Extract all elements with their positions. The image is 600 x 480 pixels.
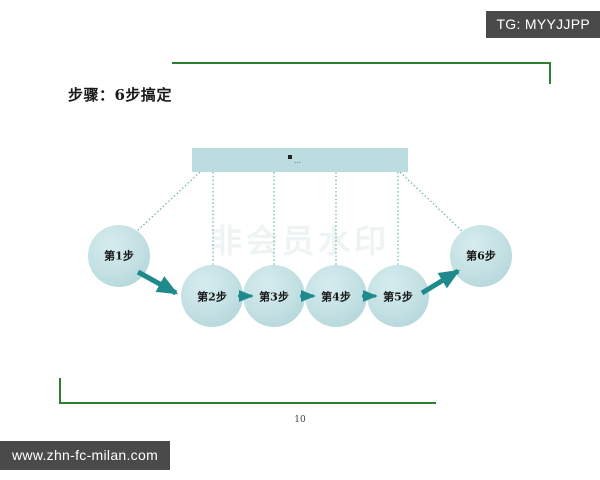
page-number: 10	[0, 415, 600, 425]
node-label-step-2: 第2步	[197, 290, 227, 304]
telegram-watermark-badge: TG: MYYJJPP	[486, 11, 600, 38]
node-label-step-3: 第3步	[259, 290, 289, 304]
square-bullet-icon	[288, 155, 292, 159]
process-flow-diagram: … 第1步 第2步 第3步 第4步 第5步 第6步	[0, 0, 600, 480]
connector-to-step-1	[136, 172, 200, 232]
connector-to-step-6	[400, 172, 463, 232]
connector-group	[136, 172, 463, 266]
header-bar-label: …	[294, 157, 301, 165]
node-label-step-5: 第5步	[383, 290, 413, 304]
arrow-step5-to-step6	[422, 271, 458, 293]
node-label-step-4: 第4步	[321, 290, 351, 304]
node-label-step-6: 第6步	[466, 249, 496, 263]
arrow-step1-to-step2	[138, 272, 176, 293]
website-watermark-badge: www.zhn-fc-milan.com	[0, 441, 170, 470]
slide-canvas: 步骤：6步搞定 非会员水印	[0, 0, 600, 480]
node-label-step-1: 第1步	[104, 249, 134, 263]
